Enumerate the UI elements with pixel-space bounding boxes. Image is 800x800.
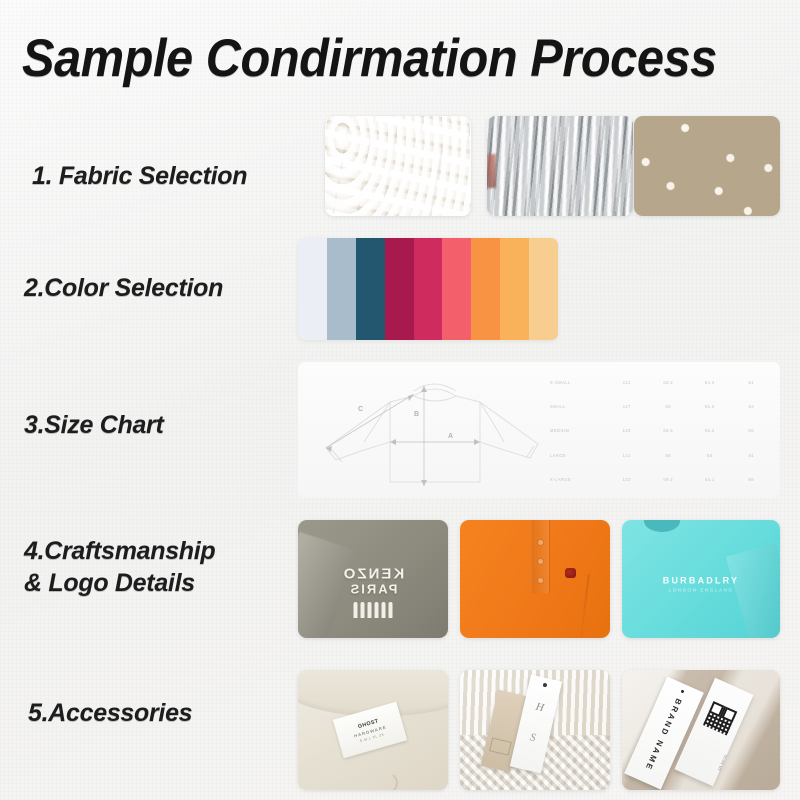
size-value: 69.2 (648, 477, 690, 482)
color-swatch-3 (385, 238, 414, 340)
brand-line-2: LONDON ENGLAND (663, 587, 739, 592)
printed-brand-logo: BURBADLRY LONDON ENGLAND (663, 575, 739, 592)
size-value: 133 (606, 477, 648, 482)
size-value: 123 (606, 428, 648, 433)
accessory-photo-brand-tag: BRAND NAME SCAN ME (622, 670, 780, 790)
size-value: 66.5 (648, 428, 690, 433)
size-name: LARGE (546, 453, 606, 458)
size-value: 117 (606, 404, 648, 409)
step-label-color-selection: 2.Color Selection (24, 272, 223, 304)
size-name: SMALL (546, 404, 606, 409)
color-swatch-4 (414, 238, 443, 340)
polo-button (538, 559, 543, 564)
svg-text:A: A (448, 433, 453, 440)
table-row: MEDIUM 123 66.5 56.3 65 (546, 428, 772, 433)
color-swatch-1 (327, 238, 356, 340)
size-measurement-table: X-SMALL 112 63.2 54.4 61 SMALL 117 65 55… (544, 368, 776, 494)
size-value: 64.1 (689, 477, 731, 482)
svg-text:B: B (414, 411, 419, 418)
tag-hole (681, 689, 685, 693)
table-row: X-LARGE 133 69.2 64.1 89 (546, 477, 772, 482)
tag-script-1: H (535, 701, 545, 714)
qr-code-icon (703, 701, 737, 735)
craft-photo-aqua-tee: BURBADLRY LONDON ENGLAND (622, 520, 780, 638)
table-row: LARGE 131 68 58 81 (546, 453, 772, 458)
print-rays (354, 602, 393, 618)
kenzo-logo-print: KENZO PARIS (342, 567, 405, 596)
size-value: 56.3 (689, 428, 731, 433)
step-label-craftsmanship-logo: 4.Craftsmanship & Logo Details (24, 535, 215, 599)
size-value: 131 (606, 453, 648, 458)
color-swatch-5 (442, 238, 471, 340)
polo-button (538, 578, 543, 583)
tag-script-2: S (529, 731, 537, 744)
color-swatch-8 (529, 238, 558, 340)
color-swatch-6 (471, 238, 500, 340)
accessory-photo-care-label: GHOST HARDWARE S M L XL 2X (298, 670, 448, 790)
table-row: X-SMALL 112 63.2 54.4 61 (546, 380, 772, 385)
drawcord (364, 770, 398, 790)
side-seam (580, 574, 590, 637)
size-value: 58 (689, 453, 731, 458)
step-label-accessories: 5.Accessories (28, 697, 192, 729)
size-name: MEDIUM (546, 428, 606, 433)
size-chart-panel: A B C X-SMALL 112 63.2 54.4 61 SMALL 117… (298, 362, 780, 498)
table-row: SMALL 117 65 55.6 63 (546, 404, 772, 409)
size-name: X-SMALL (546, 380, 606, 385)
svg-text:C: C (358, 406, 363, 413)
tag-hole (543, 683, 548, 688)
step-label-size-chart: 3.Size Chart (24, 409, 164, 441)
fabric-swatch-cable-knit (325, 116, 471, 216)
size-value: 55.6 (689, 404, 731, 409)
embroidered-logo (565, 568, 576, 578)
brand-line-2: PARIS (342, 582, 405, 596)
brand-line-1: KENZO (342, 567, 405, 583)
size-value: 65 (731, 428, 773, 433)
size-value: 61 (731, 380, 773, 385)
color-swatch-2 (356, 238, 385, 340)
color-swatch-7 (500, 238, 529, 340)
size-value: 65 (648, 404, 690, 409)
size-value: 81 (731, 453, 773, 458)
fabric-swatch-wavy-stripe (487, 116, 633, 216)
tag-write-box (489, 737, 512, 755)
size-value: 63 (731, 404, 773, 409)
size-value: 54.4 (689, 380, 731, 385)
size-value: 68 (648, 453, 690, 458)
fabric-swatch-boucle (634, 116, 780, 216)
step-label-fabric-selection: 1. Fabric Selection (32, 160, 247, 192)
craft-photo-orange-polo (460, 520, 610, 638)
accessory-photo-hang-tags: H S (460, 670, 610, 790)
color-palette-strip (298, 238, 558, 340)
garment-technical-drawing: A B C (302, 364, 552, 496)
size-name: X-LARGE (546, 477, 606, 482)
craft-photo-kenzo-print: KENZO PARIS (298, 520, 448, 638)
size-value: 112 (606, 380, 648, 385)
size-value: 63.2 (648, 380, 690, 385)
collar (644, 520, 680, 532)
page-title: Sample Condirmation Process (22, 32, 717, 85)
brand-line-1: BURBADLRY (663, 575, 739, 585)
color-swatch-0 (298, 238, 327, 340)
size-value: 89 (731, 477, 773, 482)
